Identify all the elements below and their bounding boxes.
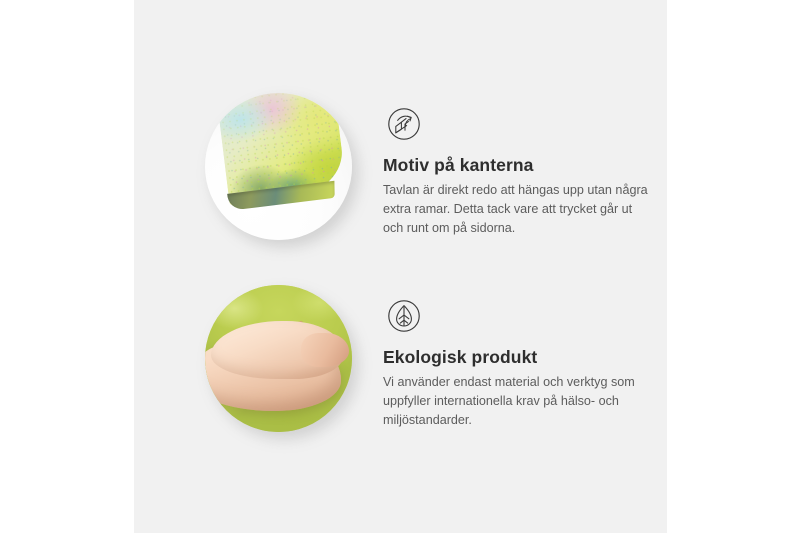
canvas-wrapped-edges-icon xyxy=(384,104,424,144)
feature-row-canvas-edges: Motiv på kanterna Tavlan är direkt redo … xyxy=(134,93,667,243)
feature-title: Motiv på kanterna xyxy=(383,155,655,176)
feature-text-block: Ekologisk produkt Vi använder endast mat… xyxy=(383,347,655,430)
canvas-block xyxy=(210,93,352,218)
fingers xyxy=(301,333,349,367)
feature-row-eco-product: Ekologisk produkt Vi använder endast mat… xyxy=(134,285,667,435)
hands-holding-wood-chips-photo xyxy=(205,285,352,432)
leaf-icon xyxy=(384,296,424,336)
feature-title: Ekologisk produkt xyxy=(383,347,655,368)
feature-text-block: Motiv på kanterna Tavlan är direkt redo … xyxy=(383,155,655,238)
product-feature-infographic: Motiv på kanterna Tavlan är direkt redo … xyxy=(0,0,800,533)
feature-body: Tavlan är direkt redo att hängas upp uta… xyxy=(383,181,655,238)
feature-body: Vi använder endast material och verktyg … xyxy=(383,373,655,430)
canvas-print-corner-photo xyxy=(205,93,352,240)
content-panel: Motiv på kanterna Tavlan är direkt redo … xyxy=(134,0,667,533)
